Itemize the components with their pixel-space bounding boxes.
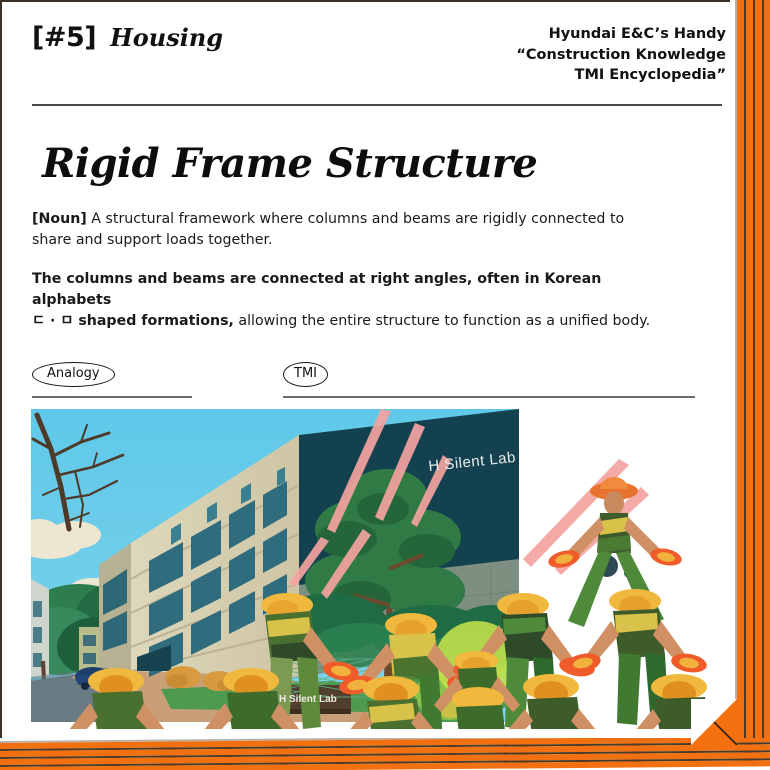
- page-edge-top: [0, 0, 732, 2]
- bottom-stripe-border: [0, 738, 770, 770]
- issue-number: [#5]: [32, 24, 96, 51]
- header-divider: [32, 104, 722, 106]
- tmi-divider: [283, 396, 695, 398]
- definition-text: A structural framework where columns and…: [32, 211, 624, 248]
- brand-line-3: TMI Encyclopedia”: [575, 67, 726, 83]
- masthead: [#5] Housing Hyundai E&C’s Handy“Constru…: [32, 0, 726, 86]
- illustration-figure: H Silent Lab H Silent Lab: [31, 409, 731, 729]
- issue-category: Housing: [110, 26, 223, 50]
- emphasis-bold-line-2: ㄷ · ㅁ shaped formations,: [32, 313, 234, 329]
- issue-kicker: [#5] Housing: [32, 24, 223, 51]
- encyclopedia-card-page: H Silent Lab H Silent Lab [#5] Housing H…: [0, 0, 770, 770]
- definition-paragraph: [Noun] A structural framework where colu…: [32, 209, 632, 252]
- brand-line-2: “Construction Knowledge: [516, 47, 726, 63]
- tmi-badge: TMI: [283, 362, 328, 387]
- brand-title: Hyundai E&C’s Handy“Construction Knowled…: [516, 24, 726, 86]
- page-title: Rigid Frame Structure: [42, 144, 726, 184]
- building-monument-sign-text: H Silent Lab: [279, 694, 337, 705]
- analogy-divider: [32, 396, 192, 398]
- emphasis-bold-line-1: The columns and beams are connected at r…: [32, 271, 601, 308]
- emphasis-paragraph: The columns and beams are connected at r…: [32, 269, 672, 332]
- brand-line-1: Hyundai E&C’s Handy: [549, 26, 726, 42]
- part-of-speech-tag: [Noun]: [32, 211, 87, 227]
- emphasis-rest: allowing the entire structure to functio…: [234, 313, 650, 329]
- page-edge-left: [0, 0, 2, 748]
- analogy-badge: Analogy: [32, 362, 115, 387]
